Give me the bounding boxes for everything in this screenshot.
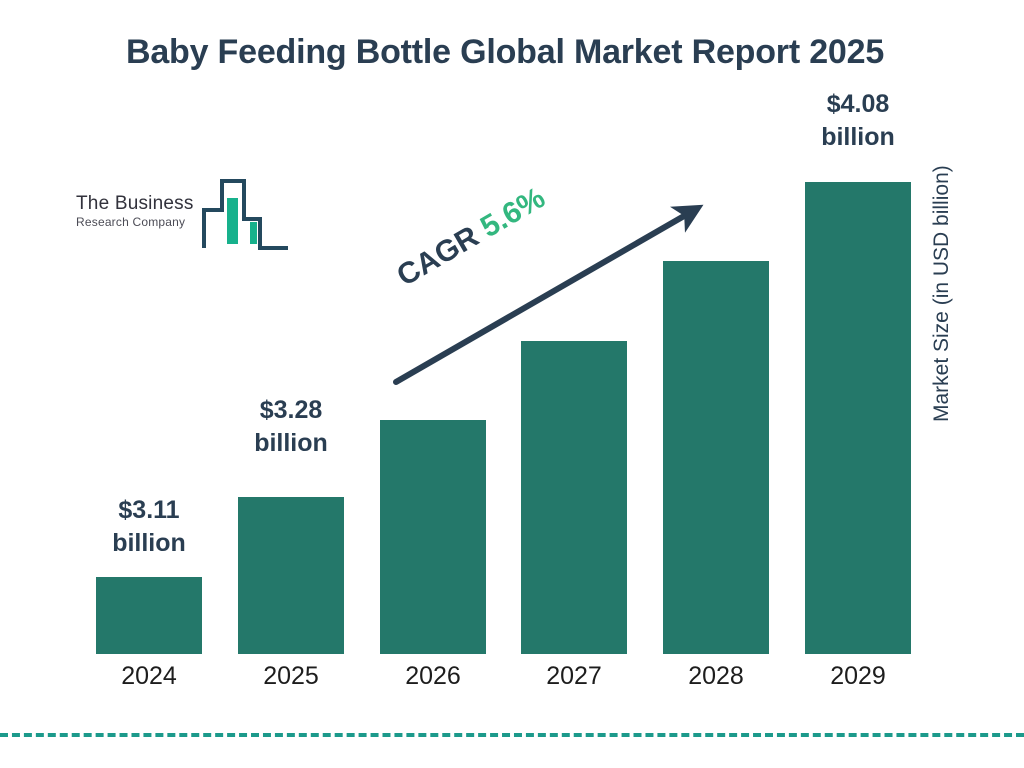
bar-value-unit-2029: billion — [788, 121, 928, 154]
x-tick-2025: 2025 — [231, 662, 351, 691]
bar-value-unit-2024: billion — [79, 527, 219, 560]
x-tick-2027: 2027 — [514, 662, 634, 691]
bar-2029 — [805, 182, 911, 654]
x-tick-2026: 2026 — [373, 662, 493, 691]
x-tick-2028: 2028 — [656, 662, 776, 691]
y-axis-title: Market Size (in USD billion) — [930, 262, 954, 422]
x-tick-2024: 2024 — [89, 662, 209, 691]
bar-2026 — [380, 420, 486, 654]
bar-value-unit-2025: billion — [221, 427, 361, 460]
x-tick-2029: 2029 — [798, 662, 918, 691]
bar-value-label-2024: $3.11 billion — [79, 494, 219, 560]
bar-value-amount-2029: $4.08 — [788, 88, 928, 121]
bar-2025 — [238, 497, 344, 654]
bar-2024 — [96, 577, 202, 654]
footer-divider — [0, 733, 1024, 737]
bar-value-label-2025: $3.28 billion — [221, 394, 361, 460]
bar-value-amount-2025: $3.28 — [221, 394, 361, 427]
bar-chart-plot-area: $3.11 billion $3.28 billion $4.08 billio… — [0, 0, 1024, 768]
bar-value-label-2029: $4.08 billion — [788, 88, 928, 154]
growth-arrow-icon — [380, 190, 720, 400]
bar-value-amount-2024: $3.11 — [79, 494, 219, 527]
